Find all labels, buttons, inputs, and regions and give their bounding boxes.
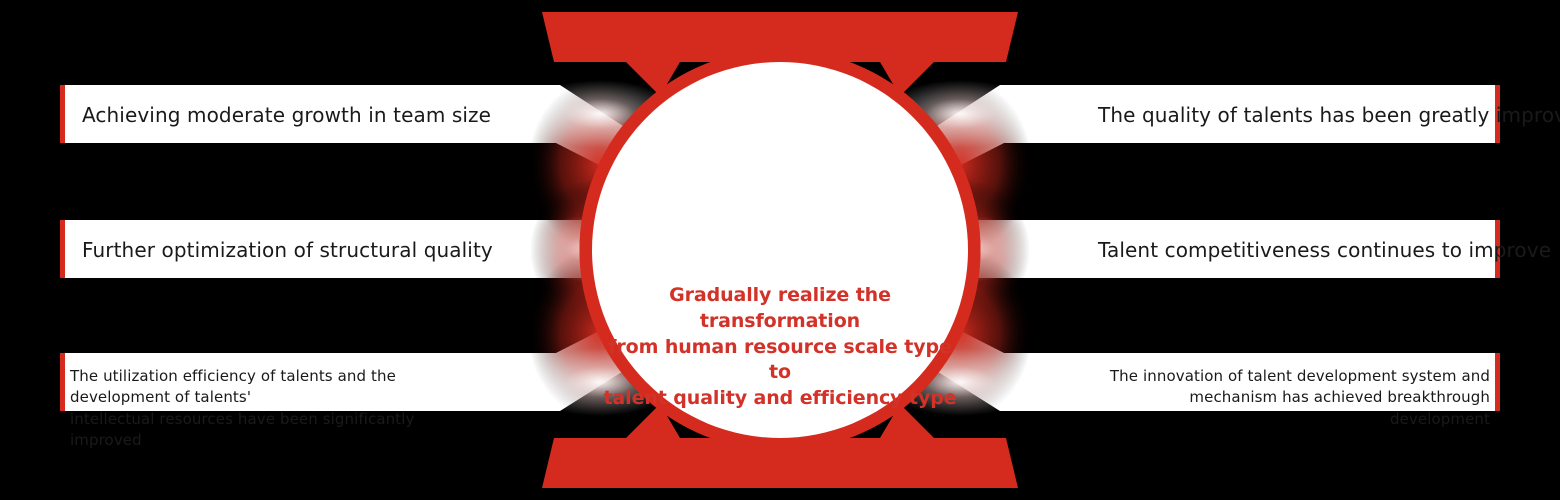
card-top-right[interactable] xyxy=(1088,85,1500,143)
accent-bar-top-right xyxy=(1495,85,1500,143)
card-middle-right[interactable] xyxy=(1088,220,1500,278)
accent-bar-bottom-right xyxy=(1495,353,1500,411)
card-bottom-right[interactable] xyxy=(1088,353,1500,411)
accent-bar-middle-left xyxy=(60,220,65,278)
card-middle-left[interactable] xyxy=(60,220,472,278)
accent-bar-bottom-left xyxy=(60,353,65,411)
accent-bar-middle-right xyxy=(1495,220,1500,278)
card-bottom-left[interactable] xyxy=(60,353,472,411)
accent-bar-top-left xyxy=(60,85,65,143)
radial-diagram: Gradually realize the transformation fro… xyxy=(0,0,1560,500)
diagram-graphics xyxy=(0,0,1560,500)
card-top-left[interactable] xyxy=(60,85,472,143)
hub-disc-overlay xyxy=(592,62,968,438)
